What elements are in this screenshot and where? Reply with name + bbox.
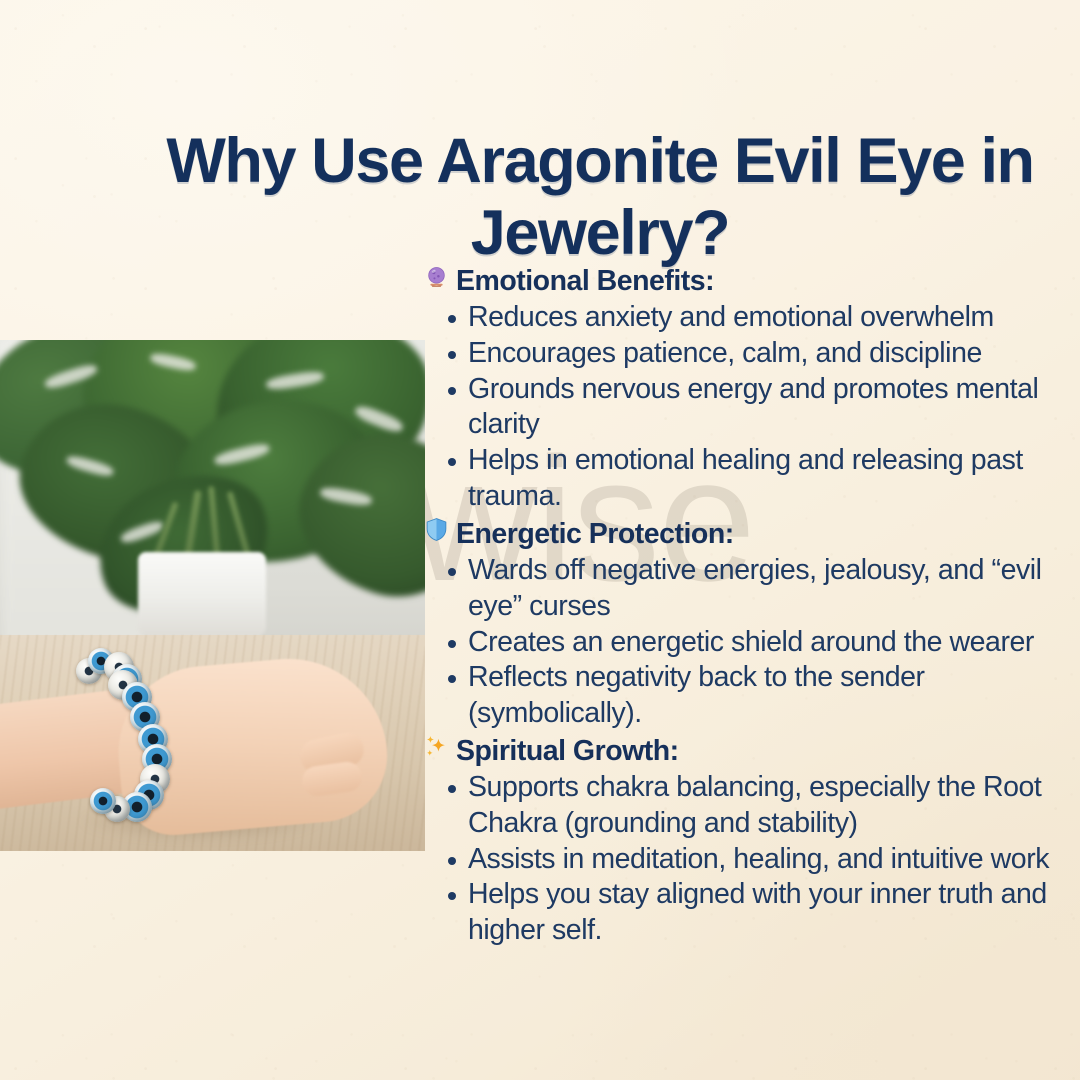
sparkles-icon [424, 734, 449, 759]
section-heading-label: Emotional Benefits: [456, 264, 714, 298]
poster-canvas: itwise Why Use Aragonite Evil Eye in Jew… [0, 0, 1080, 1080]
section-heading-label: Spiritual Growth: [456, 734, 679, 768]
list-item: Wards off negative energies, jealousy, a… [424, 553, 1064, 625]
page-title: Why Use Aragonite Evil Eye in Jewelry? [140, 126, 1060, 270]
list-item: Helps you stay aligned with your inner t… [424, 877, 1064, 949]
list-item: Creates an energetic shield around the w… [424, 625, 1064, 661]
section-heading-label: Energetic Protection: [456, 517, 734, 551]
list-item: Helps in emotional healing and releasing… [424, 443, 1064, 515]
section-heading-energetic-protection: Energetic Protection: [424, 517, 1064, 551]
plant-pot [138, 552, 266, 638]
list-item: Assists in meditation, healing, and intu… [424, 842, 1064, 878]
list-item: Supports chakra balancing, especially th… [424, 770, 1064, 842]
list-item: Grounds nervous energy and promotes ment… [424, 372, 1064, 444]
bullet-list-energetic-protection: Wards off negative energies, jealousy, a… [424, 553, 1064, 732]
list-item: Reduces anxiety and emotional overwhelm [424, 300, 1064, 336]
crystal-ball-icon [424, 264, 449, 289]
list-item: Encourages patience, calm, and disciplin… [424, 336, 1064, 372]
bullet-list-emotional-benefits: Reduces anxiety and emotional overwhelm … [424, 300, 1064, 515]
bracelet-photo [0, 340, 425, 851]
shield-icon [424, 517, 449, 542]
evil-eye-bead [90, 788, 116, 814]
benefits-content: Emotional Benefits: Reduces anxiety and … [424, 264, 1064, 951]
section-heading-emotional-benefits: Emotional Benefits: [424, 264, 1064, 298]
section-heading-spiritual-growth: Spiritual Growth: [424, 734, 1064, 768]
bullet-list-spiritual-growth: Supports chakra balancing, especially th… [424, 770, 1064, 949]
list-item: Reflects negativity back to the sender (… [424, 660, 1064, 732]
